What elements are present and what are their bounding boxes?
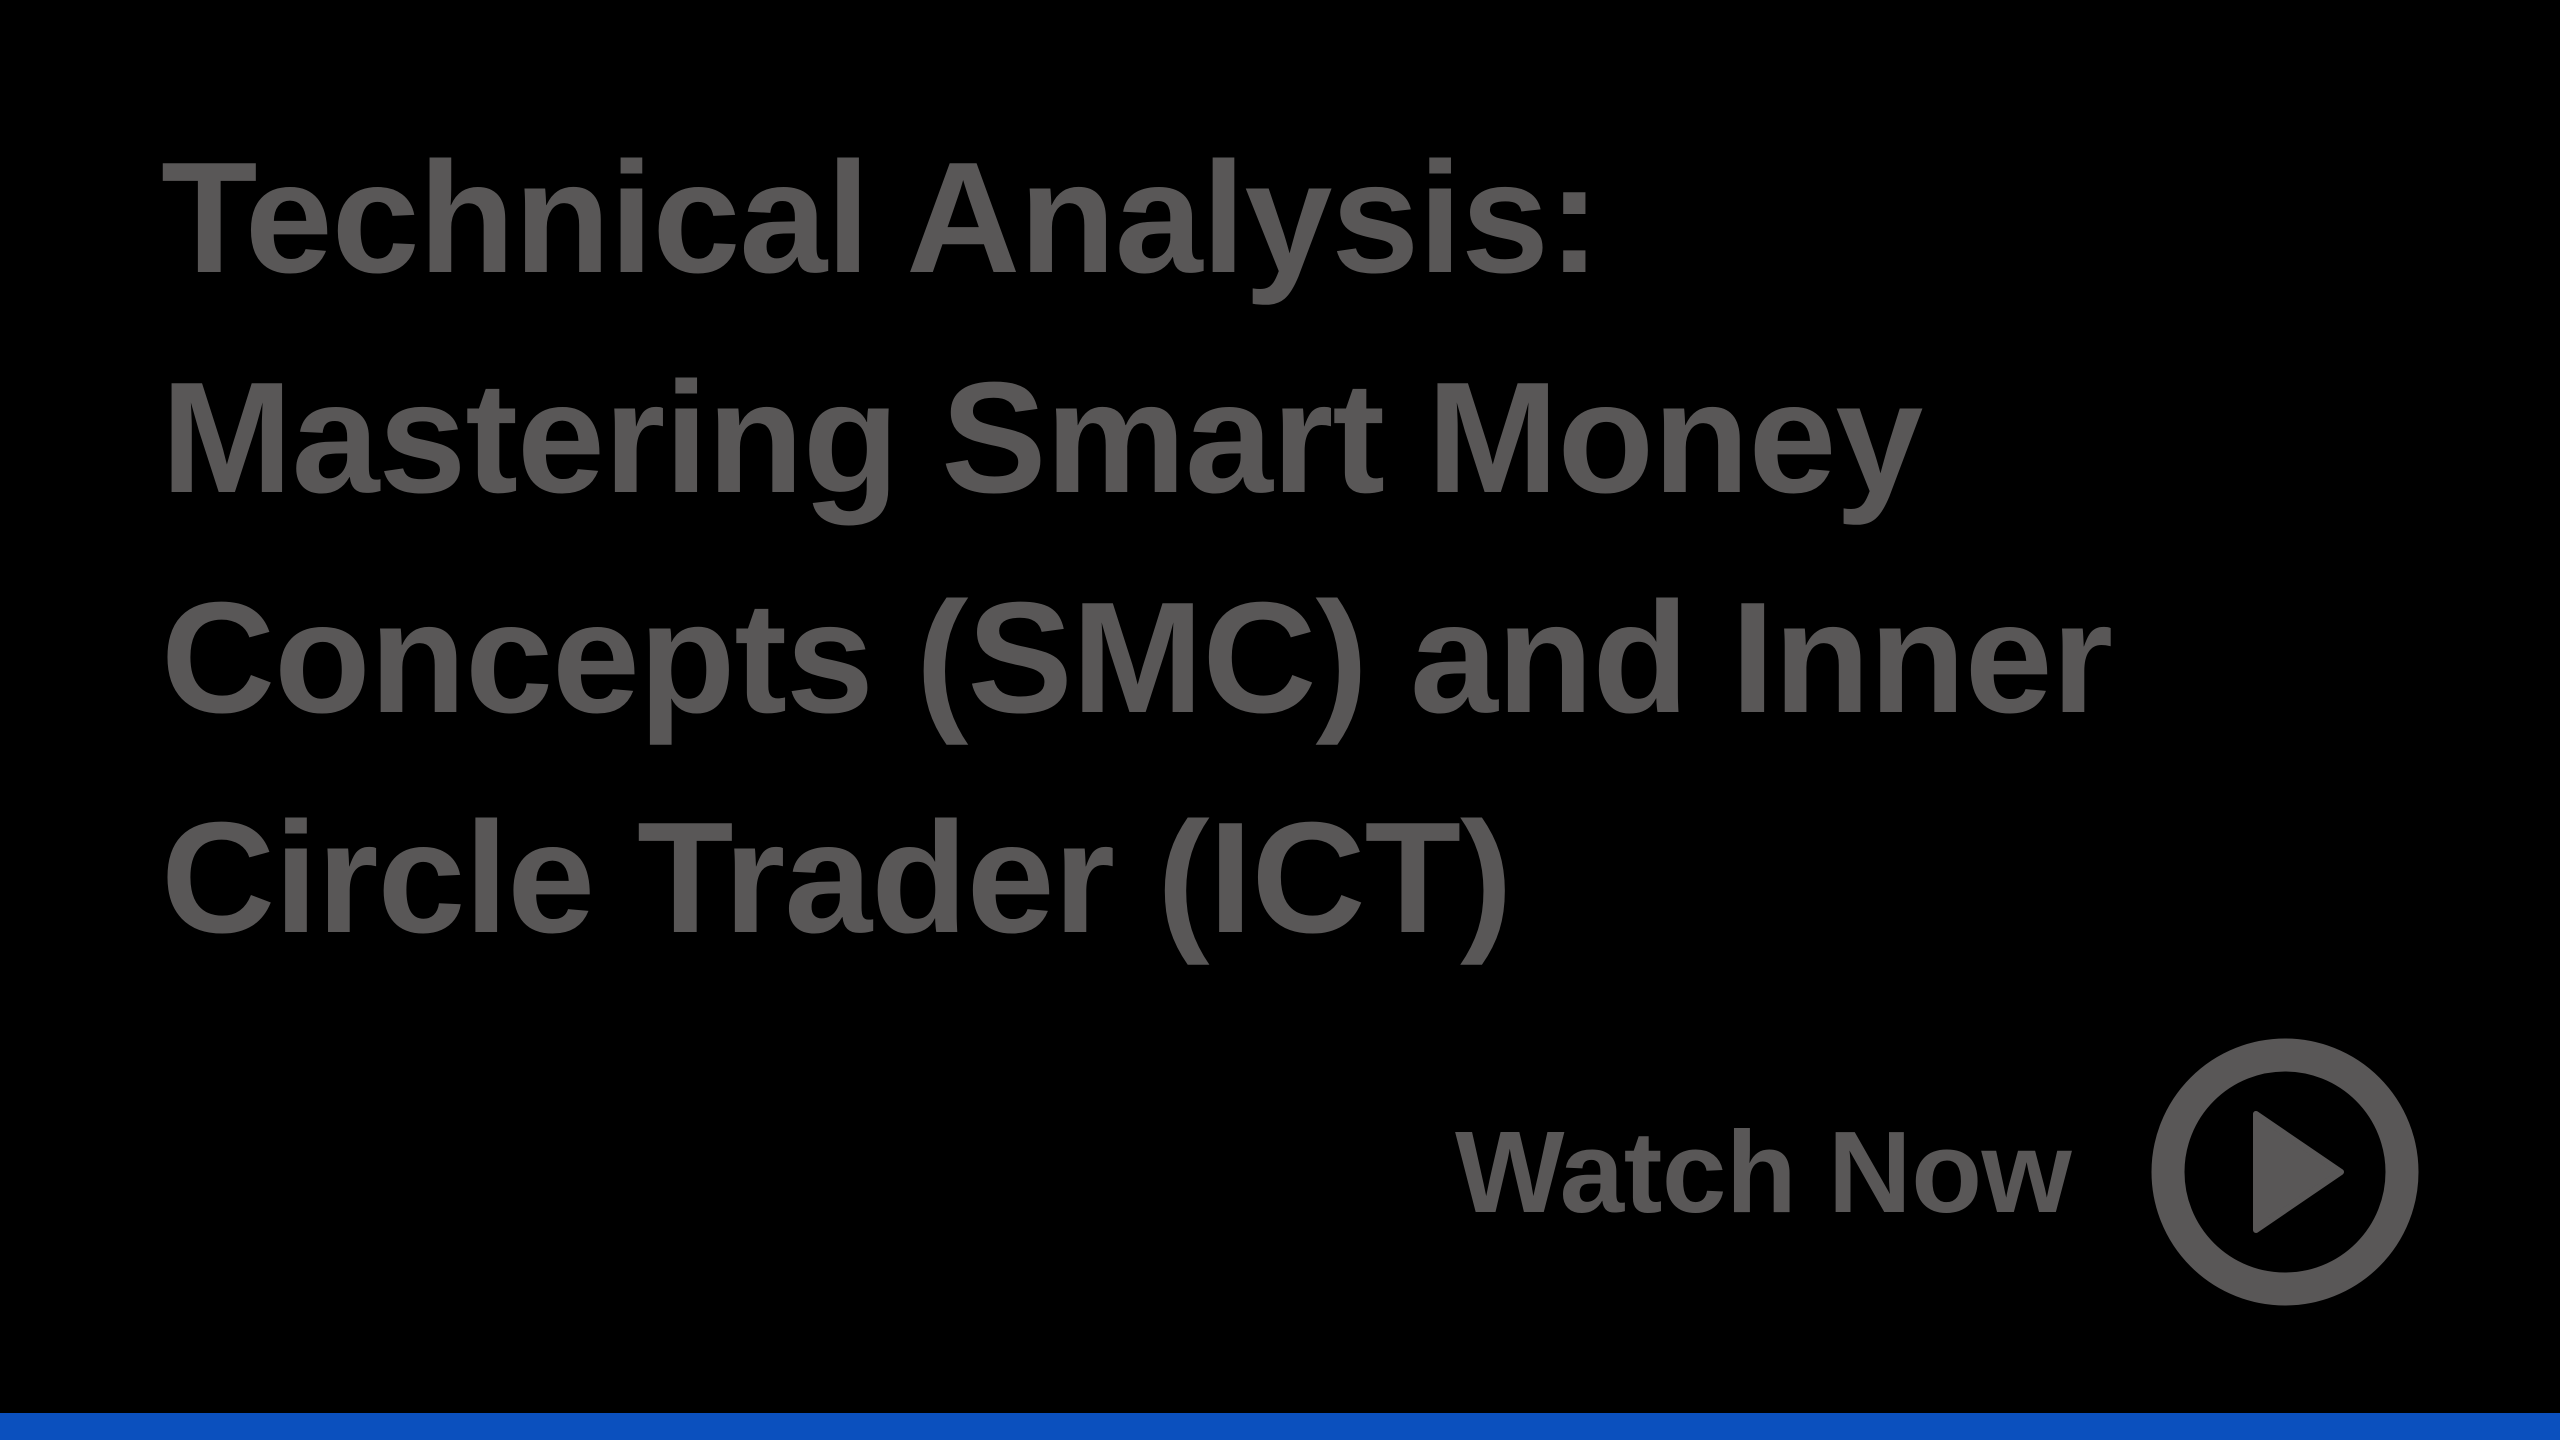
video-promo-card: Technical Analysis: Mastering Smart Mone…: [0, 0, 2560, 1440]
page-title: Technical Analysis: Mastering Smart Mone…: [161, 108, 2161, 988]
title-line-3: Concepts (SMC) and Inner: [161, 548, 2161, 768]
title-line-4: Circle Trader (ICT): [161, 768, 2161, 988]
play-circle-icon[interactable]: [2151, 1038, 2419, 1306]
watch-now-label[interactable]: Watch Now: [1455, 1114, 2071, 1230]
bottom-accent-bar: [0, 1413, 2560, 1440]
watch-now-cta[interactable]: Watch Now: [1455, 1038, 2419, 1306]
title-line-2: Mastering Smart Money: [161, 328, 2161, 548]
title-line-1: Technical Analysis:: [161, 108, 2161, 328]
